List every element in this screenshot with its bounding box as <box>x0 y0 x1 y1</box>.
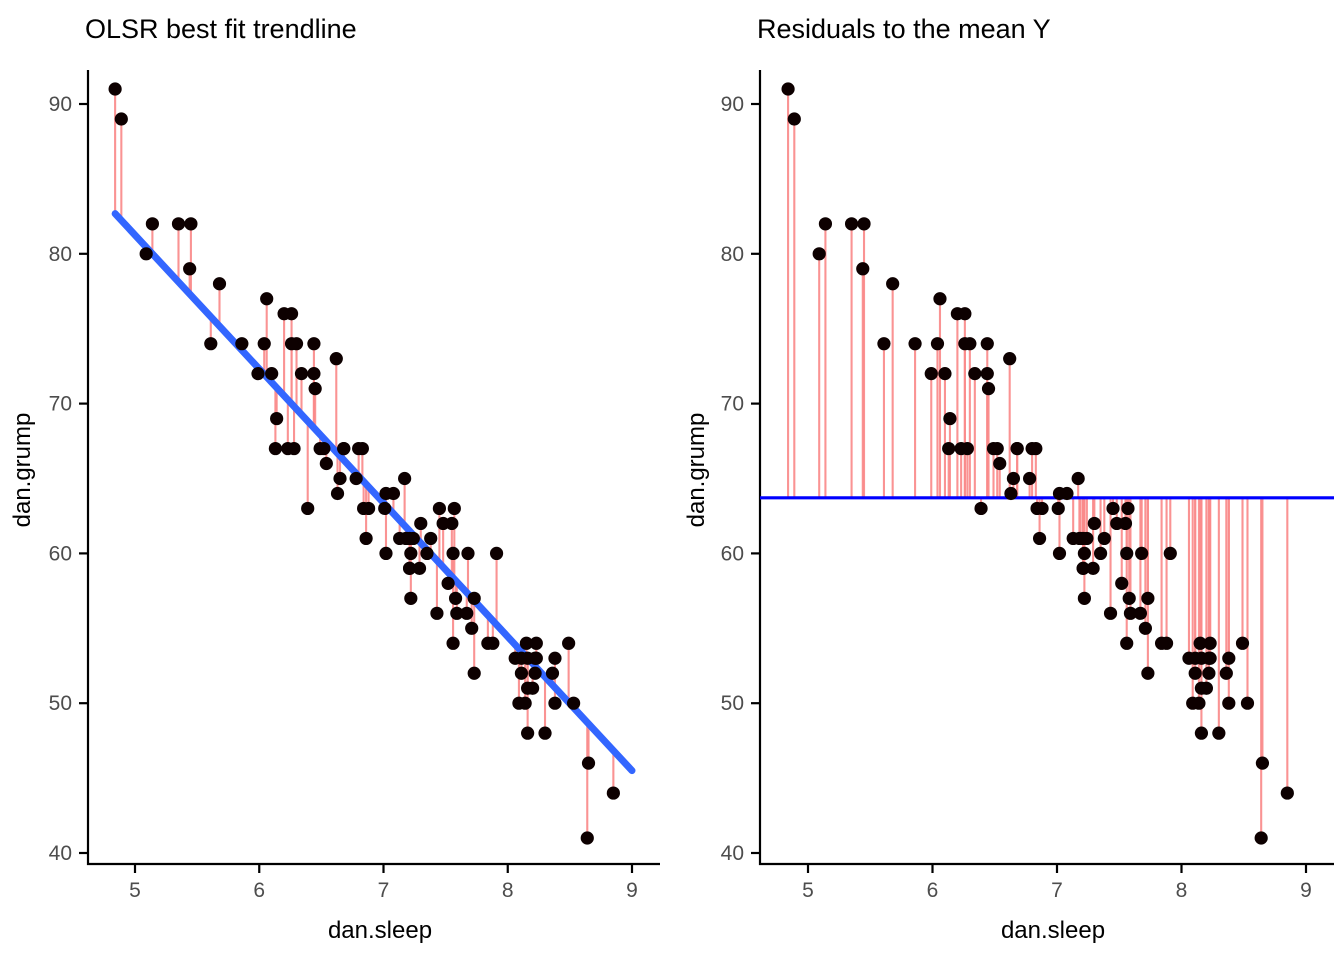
data-point <box>981 337 994 350</box>
data-point <box>856 262 869 275</box>
panel-right-title: Residuals to the mean Y <box>757 14 1051 44</box>
panel-left-title: OLSR best fit trendline <box>85 14 357 44</box>
y-tick-label: 60 <box>721 542 744 565</box>
data-point <box>1195 652 1208 665</box>
two-panel-scatter-figure: OLSR best fit trendline dan.grump dan.sl… <box>0 0 1344 960</box>
data-point <box>1120 547 1133 560</box>
data-point <box>301 502 314 515</box>
data-point <box>1007 472 1020 485</box>
data-point <box>446 547 459 560</box>
data-point <box>204 337 217 350</box>
x-tick-label: 6 <box>927 879 939 902</box>
data-point <box>509 652 522 665</box>
y-tick-label: 90 <box>49 93 72 116</box>
y-tick-label: 50 <box>49 692 72 715</box>
data-point <box>1094 547 1107 560</box>
data-point <box>379 547 392 560</box>
data-point <box>1078 592 1091 605</box>
data-point <box>285 307 298 320</box>
data-point <box>307 367 320 380</box>
data-point <box>1236 637 1249 650</box>
data-point <box>1052 502 1065 515</box>
data-point <box>1123 592 1136 605</box>
data-point <box>925 367 938 380</box>
x-tick-label: 7 <box>378 879 390 902</box>
data-point <box>781 82 794 95</box>
data-point <box>1110 517 1123 530</box>
data-point <box>1104 607 1117 620</box>
data-point <box>481 637 494 650</box>
data-point <box>1222 697 1235 710</box>
data-point <box>520 637 533 650</box>
data-point <box>528 667 541 680</box>
data-point <box>877 337 890 350</box>
data-point <box>1135 547 1148 560</box>
data-point <box>398 472 411 485</box>
figure-canvas: OLSR best fit trendline dan.grump dan.sl… <box>0 0 1344 960</box>
data-point <box>307 337 320 350</box>
data-point <box>1115 577 1128 590</box>
data-point <box>931 337 944 350</box>
data-point <box>446 637 459 650</box>
data-point <box>546 667 559 680</box>
data-point <box>1195 727 1208 740</box>
data-point <box>357 502 370 515</box>
data-point <box>309 382 322 395</box>
data-point <box>1078 547 1091 560</box>
panel-left-y-axis-label: dan.grump <box>9 413 36 528</box>
data-point <box>424 532 437 545</box>
x-tick-label: 9 <box>626 879 638 902</box>
data-point <box>908 337 921 350</box>
data-point <box>449 592 462 605</box>
data-point <box>981 367 994 380</box>
data-point <box>115 112 128 125</box>
data-point <box>420 547 433 560</box>
data-point <box>1222 652 1235 665</box>
data-point <box>437 517 450 530</box>
data-point <box>1200 682 1213 695</box>
data-point <box>1241 697 1254 710</box>
y-tick-label: 80 <box>49 243 72 266</box>
data-point <box>414 517 427 530</box>
data-point <box>258 337 271 350</box>
data-point <box>1189 667 1202 680</box>
data-point <box>942 442 955 455</box>
data-point <box>958 337 971 350</box>
data-point <box>1087 562 1100 575</box>
data-point <box>1120 637 1133 650</box>
data-point <box>285 337 298 350</box>
data-point <box>521 727 534 740</box>
data-point <box>260 292 273 305</box>
x-tick-label: 6 <box>253 879 265 902</box>
data-point <box>1256 757 1269 770</box>
data-point <box>287 442 300 455</box>
figure-background <box>0 0 1344 960</box>
data-point <box>1030 502 1043 515</box>
y-tick-label: 90 <box>721 93 744 116</box>
data-point <box>295 367 308 380</box>
data-point <box>1192 697 1205 710</box>
x-tick-label: 8 <box>1176 879 1188 902</box>
data-point <box>331 487 344 500</box>
data-point <box>1033 532 1046 545</box>
data-point <box>845 217 858 230</box>
y-tick-label: 40 <box>721 842 744 865</box>
data-point <box>1121 502 1134 515</box>
panel-right-y-axis-label: dan.grump <box>683 413 710 528</box>
data-point <box>468 667 481 680</box>
data-point <box>413 562 426 575</box>
data-point <box>526 682 539 695</box>
x-tick-label: 5 <box>802 879 814 902</box>
data-point <box>607 786 620 799</box>
data-point <box>1155 637 1168 650</box>
data-point <box>933 292 946 305</box>
data-point <box>548 697 561 710</box>
data-point <box>317 442 330 455</box>
data-point <box>993 457 1006 470</box>
data-point <box>819 217 832 230</box>
data-point <box>991 442 1004 455</box>
data-point <box>1255 831 1268 844</box>
data-point <box>1134 607 1147 620</box>
data-point <box>269 442 282 455</box>
data-point <box>1164 547 1177 560</box>
data-point <box>1077 532 1090 545</box>
data-point <box>235 337 248 350</box>
data-point <box>974 502 987 515</box>
data-point <box>562 637 575 650</box>
data-point <box>109 82 122 95</box>
data-point <box>403 532 416 545</box>
data-point <box>430 607 443 620</box>
data-point <box>968 367 981 380</box>
data-point <box>982 382 995 395</box>
data-point <box>183 262 196 275</box>
data-point <box>270 412 283 425</box>
data-point <box>958 307 971 320</box>
data-point <box>172 217 185 230</box>
x-tick-label: 8 <box>502 879 514 902</box>
data-point <box>1220 667 1233 680</box>
y-tick-label: 80 <box>721 243 744 266</box>
data-point <box>1072 472 1085 485</box>
data-point <box>379 487 392 500</box>
data-point <box>1194 637 1207 650</box>
data-point <box>1053 487 1066 500</box>
data-point <box>404 547 417 560</box>
y-tick-label: 70 <box>49 393 72 416</box>
data-point <box>460 607 473 620</box>
data-point <box>1182 652 1195 665</box>
data-point <box>1053 547 1066 560</box>
data-point <box>352 442 365 455</box>
data-point <box>938 367 951 380</box>
data-point <box>581 831 594 844</box>
data-point <box>1141 667 1154 680</box>
data-point <box>567 697 580 710</box>
data-point <box>140 247 153 260</box>
data-point <box>1202 667 1215 680</box>
data-point <box>548 652 561 665</box>
data-point <box>468 592 481 605</box>
data-point <box>1098 532 1111 545</box>
data-point <box>1212 727 1225 740</box>
y-tick-label: 70 <box>721 393 744 416</box>
data-point <box>146 217 159 230</box>
data-point <box>333 472 346 485</box>
data-point <box>515 667 528 680</box>
data-point <box>857 217 870 230</box>
data-point <box>943 412 956 425</box>
x-tick-label: 9 <box>1300 879 1312 902</box>
data-point <box>404 592 417 605</box>
data-point <box>251 367 264 380</box>
data-point <box>184 217 197 230</box>
data-point <box>1004 487 1017 500</box>
data-point <box>1088 517 1101 530</box>
data-point <box>1023 472 1036 485</box>
y-tick-label: 50 <box>721 692 744 715</box>
data-point <box>961 442 974 455</box>
data-point <box>448 502 461 515</box>
data-point <box>1011 442 1024 455</box>
x-tick-label: 7 <box>1051 879 1063 902</box>
panel-left-x-axis-label: dan.sleep <box>328 917 432 944</box>
data-point <box>1003 352 1016 365</box>
data-point <box>465 622 478 635</box>
data-point <box>1106 502 1119 515</box>
data-point <box>1281 786 1294 799</box>
data-point <box>213 277 226 290</box>
data-point <box>538 727 551 740</box>
data-point <box>886 277 899 290</box>
y-tick-label: 60 <box>49 542 72 565</box>
data-point <box>337 442 350 455</box>
data-point <box>265 367 278 380</box>
data-point <box>378 502 391 515</box>
x-tick-label: 5 <box>129 879 141 902</box>
data-point <box>1026 442 1039 455</box>
data-point <box>519 697 532 710</box>
data-point <box>360 532 373 545</box>
y-tick-label: 40 <box>49 842 72 865</box>
data-point <box>521 652 534 665</box>
data-point <box>433 502 446 515</box>
panel-right-x-axis-label: dan.sleep <box>1001 917 1105 944</box>
data-point <box>813 247 826 260</box>
data-point <box>1141 592 1154 605</box>
data-point <box>461 547 474 560</box>
data-point <box>1139 622 1152 635</box>
data-point <box>350 472 363 485</box>
data-point <box>490 547 503 560</box>
data-point <box>330 352 343 365</box>
data-point <box>320 457 333 470</box>
data-point <box>582 757 595 770</box>
data-point <box>788 112 801 125</box>
data-point <box>442 577 455 590</box>
